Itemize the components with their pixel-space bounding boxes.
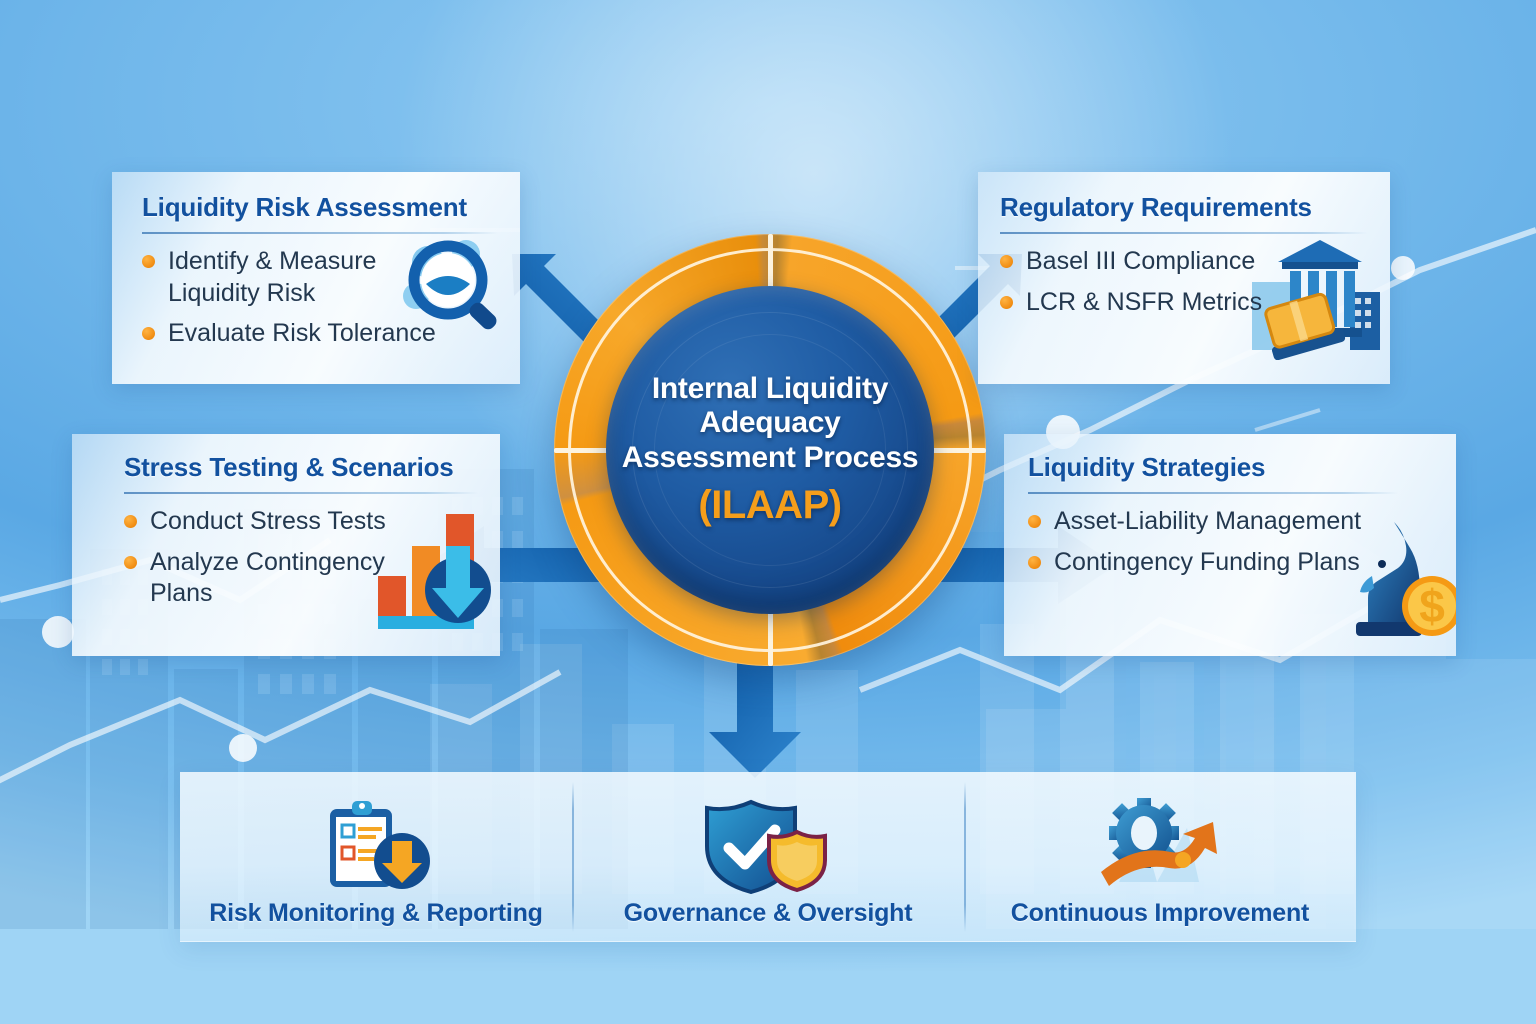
hub-line-2: Adequacy (620, 406, 920, 441)
card-stress-testing-scenarios[interactable]: Stress Testing & Scenarios Conduct Stres… (72, 434, 500, 656)
bottom-item-governance-oversight[interactable]: Governance & Oversight (572, 772, 964, 942)
bottom-item-continuous-improvement[interactable]: Continuous Improvement (964, 772, 1356, 942)
bullet-dot-icon (1028, 515, 1041, 528)
card-divider (142, 232, 498, 234)
card-liquidity-risk-assessment[interactable]: Liquidity Risk Assessment Identify & Mea… (112, 172, 520, 384)
bullet-label: Identify & Measure Liquidity Risk (168, 246, 398, 309)
bottom-item-label: Governance & Oversight (624, 899, 913, 928)
card-bullet: Asset-Liability Management (1028, 506, 1434, 538)
bottom-item-risk-monitoring-reporting[interactable]: Risk Monitoring & Reporting (180, 772, 572, 942)
bullet-label: Asset-Liability Management (1054, 506, 1361, 538)
card-title: Stress Testing & Scenarios (124, 452, 478, 483)
clipboard-download-icon (316, 799, 436, 893)
card-title: Liquidity Risk Assessment (142, 192, 498, 223)
card-bullet: Conduct Stress Tests (124, 506, 478, 538)
bullet-label: LCR & NSFR Metrics (1026, 287, 1262, 319)
svg-text:$: $ (1419, 580, 1445, 632)
hub-core: Internal Liquidity Adequacy Assessment P… (606, 286, 934, 614)
central-hub[interactable]: Internal Liquidity Adequacy Assessment P… (554, 234, 986, 666)
bullet-dot-icon (124, 515, 137, 528)
card-divider (124, 492, 478, 494)
bullet-dot-icon (124, 556, 137, 569)
bottom-item-label: Risk Monitoring & Reporting (209, 899, 542, 928)
hub-tick-right (932, 448, 986, 453)
hub-tick-left (554, 448, 608, 453)
card-divider (1000, 232, 1368, 234)
bullet-dot-icon (142, 327, 155, 340)
hub-line-3: Assessment Process (620, 441, 920, 476)
bullet-dot-icon (1028, 556, 1041, 569)
bullet-dot-icon (142, 255, 155, 268)
infographic-canvas: Internal Liquidity Adequacy Assessment P… (0, 0, 1536, 1024)
bullet-dot-icon (1000, 296, 1013, 309)
card-bullet: LCR & NSFR Metrics (1000, 287, 1368, 319)
gear-arrow-icon (1095, 799, 1225, 893)
card-bullet: Analyze Contingency Plans (124, 547, 478, 610)
bottom-panel: Risk Monitoring & Reporting Governance &… (180, 772, 1356, 942)
hub-tick-top (768, 234, 773, 288)
card-title: Liquidity Strategies (1028, 452, 1434, 483)
arrow-to-bottom-panel (700, 660, 810, 780)
hub-acronym: (ILAAP) (620, 482, 920, 528)
hub-text: Internal Liquidity Adequacy Assessment P… (620, 372, 920, 529)
card-title: Regulatory Requirements (1000, 192, 1368, 223)
bottom-item-label: Continuous Improvement (1011, 899, 1309, 928)
card-bullet: Contingency Funding Plans (1028, 547, 1434, 579)
card-regulatory-requirements[interactable]: Regulatory Requirements Basel III Compli… (978, 172, 1390, 384)
bullet-dot-icon (1000, 255, 1013, 268)
card-bullet: Identify & Measure Liquidity Risk (142, 246, 498, 309)
card-bullet: Basel III Compliance (1000, 246, 1368, 278)
shield-check-icon (705, 799, 831, 893)
hub-tick-bottom (768, 612, 773, 666)
bullet-label: Contingency Funding Plans (1054, 547, 1360, 579)
bullet-label: Analyze Contingency Plans (150, 547, 395, 610)
card-bullet: Evaluate Risk Tolerance (142, 318, 498, 350)
bullet-label: Evaluate Risk Tolerance (168, 318, 436, 350)
card-liquidity-strategies[interactable]: Liquidity Strategies Asset-Liability Man… (1004, 434, 1456, 656)
bullet-label: Conduct Stress Tests (150, 506, 386, 538)
card-divider (1028, 492, 1398, 494)
hub-line-1: Internal Liquidity (620, 372, 920, 407)
bullet-label: Basel III Compliance (1026, 246, 1255, 278)
